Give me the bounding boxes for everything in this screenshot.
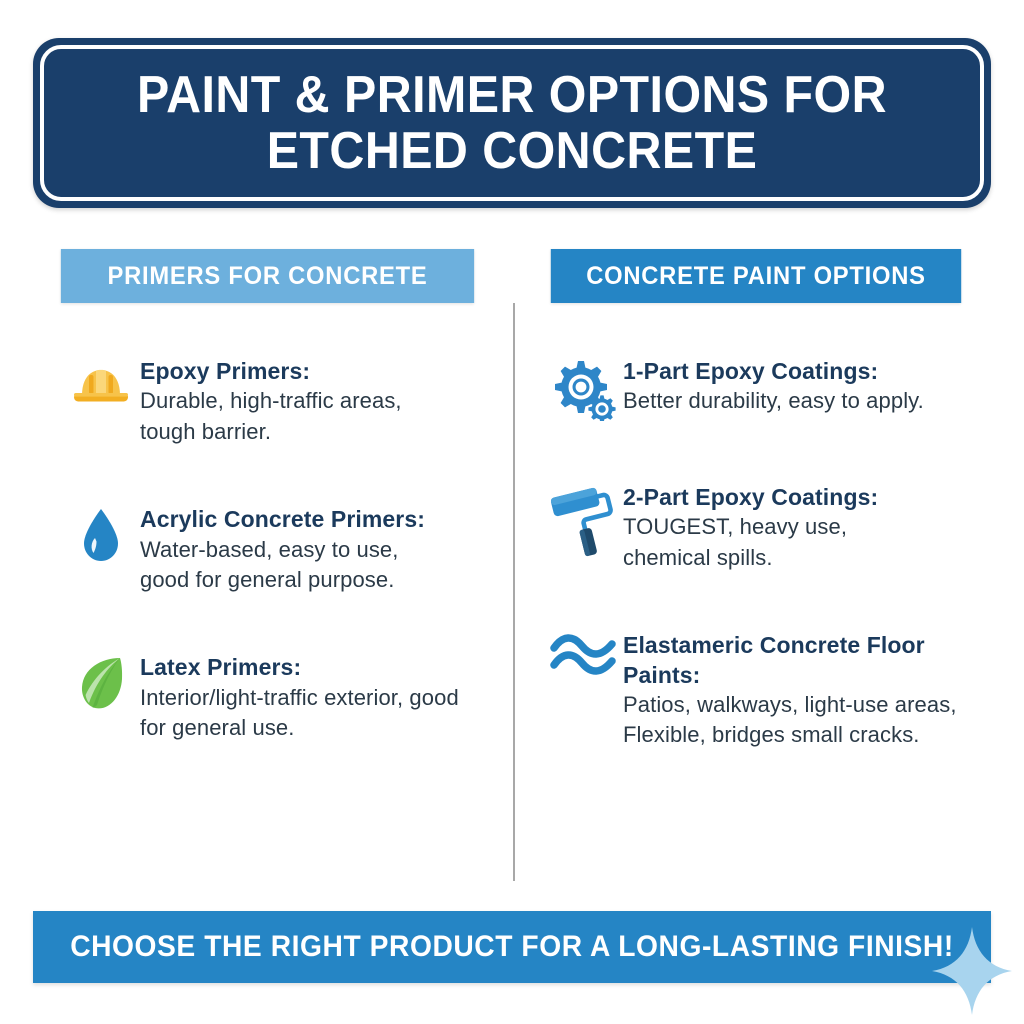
list-item: Epoxy Primers: Durable, high-traffic are…	[62, 355, 502, 447]
list-item-body: 2-Part Epoxy Coatings: TOUGEST, heavy us…	[623, 481, 878, 573]
list-item-description: Water-based, easy to use, good for gener…	[140, 535, 425, 596]
list-item-description: Interior/light-traffic exterior, good fo…	[140, 683, 459, 744]
primers-column: Epoxy Primers: Durable, high-traffic are…	[62, 355, 502, 799]
hard-hat-icon	[62, 355, 140, 425]
footer-banner: CHOOSE THE RIGHT PRODUCT FOR A LONG-LAST…	[33, 911, 991, 983]
column-header-paints: CONCRETE PAINT OPTIONS	[551, 249, 961, 303]
list-item-body: Epoxy Primers: Durable, high-traffic are…	[140, 355, 402, 447]
list-item-description: Patios, walkways, light-use areas, Flexi…	[623, 690, 985, 751]
gears-icon	[545, 355, 623, 425]
list-item-title: Elastameric Concrete Floor Paints:	[623, 631, 985, 690]
leaf-icon	[62, 651, 140, 721]
list-item-title: 2-Part Epoxy Coatings:	[623, 483, 878, 512]
title-panel: PAINT & PRIMER OPTIONS FOR ETCHED CONCRE…	[33, 38, 991, 208]
list-item-title: Latex Primers:	[140, 653, 459, 682]
list-item-title: Acrylic Concrete Primers:	[140, 505, 425, 534]
list-item-title: Epoxy Primers:	[140, 357, 402, 386]
list-item-body: Elastameric Concrete Floor Paints: Patio…	[623, 629, 985, 751]
list-item-description: TOUGEST, heavy use, chemical spills.	[623, 512, 878, 573]
title-panel-inner-border: PAINT & PRIMER OPTIONS FOR ETCHED CONCRE…	[40, 45, 984, 201]
list-item: Acrylic Concrete Primers: Water-based, e…	[62, 503, 502, 595]
paint-roller-icon	[545, 481, 623, 551]
list-item-description: Better durability, easy to apply.	[623, 386, 924, 416]
waves-icon	[545, 629, 623, 699]
page-title: PAINT & PRIMER OPTIONS FOR ETCHED CONCRE…	[77, 67, 947, 179]
list-item: Latex Primers: Interior/light-traffic ex…	[62, 651, 502, 743]
list-item-description: Durable, high-traffic areas, tough barri…	[140, 386, 402, 447]
list-item-body: Latex Primers: Interior/light-traffic ex…	[140, 651, 459, 743]
column-header-primers: PRIMERS FOR CONCRETE	[61, 249, 474, 303]
list-item: Elastameric Concrete Floor Paints: Patio…	[545, 629, 985, 751]
footer-cta-text: CHOOSE THE RIGHT PRODUCT FOR A LONG-LAST…	[70, 930, 954, 964]
list-item: 2-Part Epoxy Coatings: TOUGEST, heavy us…	[545, 481, 985, 573]
column-divider	[513, 303, 515, 881]
paints-column: 1-Part Epoxy Coatings: Better durability…	[545, 355, 985, 807]
water-droplet-icon	[62, 503, 140, 573]
list-item-title: 1-Part Epoxy Coatings:	[623, 357, 924, 386]
list-item: 1-Part Epoxy Coatings: Better durability…	[545, 355, 985, 425]
list-item-body: 1-Part Epoxy Coatings: Better durability…	[623, 355, 924, 417]
list-item-body: Acrylic Concrete Primers: Water-based, e…	[140, 503, 425, 595]
